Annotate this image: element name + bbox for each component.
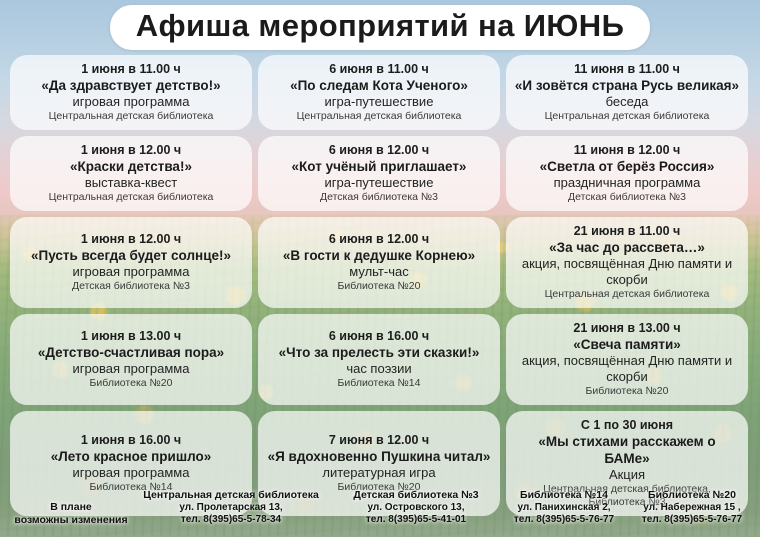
event-date: 1 июня в 16.00 ч [18,432,244,448]
event-kind: акция, посвящённая Дню памяти и скорби [514,353,740,385]
event-place: Центральная детская библиотека [514,288,740,301]
event-date: 1 июня в 13.00 ч [18,328,244,344]
event-title: «Светла от берёз Россия» [514,158,740,175]
event-title: «Да здравствует детство!» [18,77,244,94]
event-place: Детская библиотека №3 [18,280,244,293]
event-kind: игра-путешествие [266,94,492,110]
contact-name: Центральная детская библиотека [126,489,336,502]
event-date: 6 июня в 12.00 ч [266,142,492,158]
event-kind: игровая программа [18,361,244,377]
event-date: 11 июня в 12.00 ч [514,142,740,158]
event-card[interactable]: 6 июня в 11.00 ч «По следам Кота Ученого… [258,55,500,130]
event-place: Центральная детская библиотека [514,110,740,123]
event-card[interactable]: 1 июня в 11.00 ч «Да здравствует детство… [10,55,252,130]
event-title: «Мы стихами расскажем о БАМе» [514,433,740,467]
event-card[interactable]: 11 июня в 12.00 ч «Светла от берёз Росси… [506,136,748,211]
event-place: Библиотека №14 [266,377,492,390]
contact-address: ул. Набережная 15 , [628,502,756,515]
event-title: «Свеча памяти» [514,336,740,353]
event-kind: игровая программа [18,264,244,280]
event-title: «По следам Кота Ученого» [266,77,492,94]
event-title: «В гости к дедушке Корнею» [266,247,492,264]
event-title: «Лето красное пришло» [18,448,244,465]
contact-phone[interactable]: тел. 8(395)65-5-76-77 [628,514,756,527]
event-title: «И зовётся страна Русь великая» [514,77,740,94]
events-grid: 1 июня в 11.00 ч «Да здравствует детство… [10,55,750,516]
event-title: «Краски детства!» [18,158,244,175]
event-date: 6 июня в 16.00 ч [266,328,492,344]
event-card[interactable]: 11 июня в 11.00 ч «И зовётся страна Русь… [506,55,748,130]
event-card[interactable]: 1 июня в 12.00 ч «Краски детства!» выста… [10,136,252,211]
event-kind: праздничная программа [514,175,740,191]
event-place: Центральная детская библиотека [266,110,492,123]
event-kind: беседа [514,94,740,110]
page-title: Афиша мероприятий на ИЮНЬ [136,7,625,45]
event-date: 6 июня в 11.00 ч [266,61,492,77]
footer-note-line1: В плане [6,501,136,514]
event-title: «Я вдохновенно Пушкина читал» [266,448,492,465]
contact-phone[interactable]: тел. 8(395)65-5-78-34 [126,514,336,527]
contact-central-children-library: Центральная детская библиотека ул. Проле… [126,489,336,527]
event-place: Центральная детская библиотека [18,191,244,204]
contact-library-14: Библиотека №14 ул. Панихинская 2, тел. 8… [500,489,628,527]
event-card[interactable]: 1 июня в 12.00 ч «Пусть всегда будет сол… [10,217,252,308]
event-kind: игровая программа [18,465,244,481]
event-kind: литературная игра [266,465,492,481]
event-date: 21 июня в 13.00 ч [514,320,740,336]
event-place: Библиотека №20 [514,385,740,398]
contact-library-20: Библиотека №20 ул. Набережная 15 , тел. … [628,489,756,527]
contact-address: ул. Панихинская 2, [500,502,628,515]
event-poster: Афиша мероприятий на ИЮНЬ 1 июня в 11.00… [0,0,760,537]
poster-title-area: Афиша мероприятий на ИЮНЬ [0,4,760,50]
event-place: Библиотека №20 [18,377,244,390]
event-kind: акция, посвящённая Дню памяти и скорби [514,256,740,288]
event-place: Детская библиотека №3 [266,191,492,204]
event-title: «Кот учёный приглашает» [266,158,492,175]
event-date: 1 июня в 11.00 ч [18,61,244,77]
event-card[interactable]: 21 июня в 11.00 ч «За час до рассвета…» … [506,217,748,308]
contact-phone[interactable]: тел. 8(395)65-5-41-01 [336,514,496,527]
event-place: Детская библиотека №3 [514,191,740,204]
event-date: 1 июня в 12.00 ч [18,142,244,158]
contact-name: Детская библиотека №3 [336,489,496,502]
contact-phone[interactable]: тел. 8(395)65-5-76-77 [500,514,628,527]
event-place: Библиотека №20 [266,280,492,293]
poster-footer: В плане возможны изменения Центральная д… [0,481,760,537]
event-title: «Детство-счастливая пора» [18,344,244,361]
event-card[interactable]: 6 июня в 12.00 ч «Кот учёный приглашает»… [258,136,500,211]
event-title: «За час до рассвета…» [514,239,740,256]
title-pill: Афиша мероприятий на ИЮНЬ [110,5,651,50]
event-date: 1 июня в 12.00 ч [18,231,244,247]
event-kind: выставка-квест [18,175,244,191]
footer-note-line2: возможны изменения [6,514,136,527]
event-date: 6 июня в 12.00 ч [266,231,492,247]
event-card[interactable]: 6 июня в 16.00 ч «Что за прелесть эти ск… [258,314,500,405]
event-kind: игровая программа [18,94,244,110]
contact-address: ул. Островского 13, [336,502,496,515]
event-date: 7 июня в 12.00 ч [266,432,492,448]
event-card[interactable]: 6 июня в 12.00 ч «В гости к дедушке Корн… [258,217,500,308]
contact-address: ул. Пролетарская 13, [126,502,336,515]
event-title: «Что за прелесть эти сказки!» [266,344,492,361]
event-date: 21 июня в 11.00 ч [514,223,740,239]
event-card[interactable]: 1 июня в 13.00 ч «Детство-счастливая пор… [10,314,252,405]
footer-note: В плане возможны изменения [6,501,136,527]
event-kind: час поэзии [266,361,492,377]
event-kind: игра-путешествие [266,175,492,191]
event-title: «Пусть всегда будет солнце!» [18,247,244,264]
event-card[interactable]: 21 июня в 13.00 ч «Свеча памяти» акция, … [506,314,748,405]
event-date: С 1 по 30 июня [514,417,740,433]
contact-name: Библиотека №20 [628,489,756,502]
event-date: 11 июня в 11.00 ч [514,61,740,77]
event-kind: мульт-час [266,264,492,280]
contact-children-library-3: Детская библиотека №3 ул. Островского 13… [336,489,496,527]
contact-name: Библиотека №14 [500,489,628,502]
event-place: Центральная детская библиотека [18,110,244,123]
